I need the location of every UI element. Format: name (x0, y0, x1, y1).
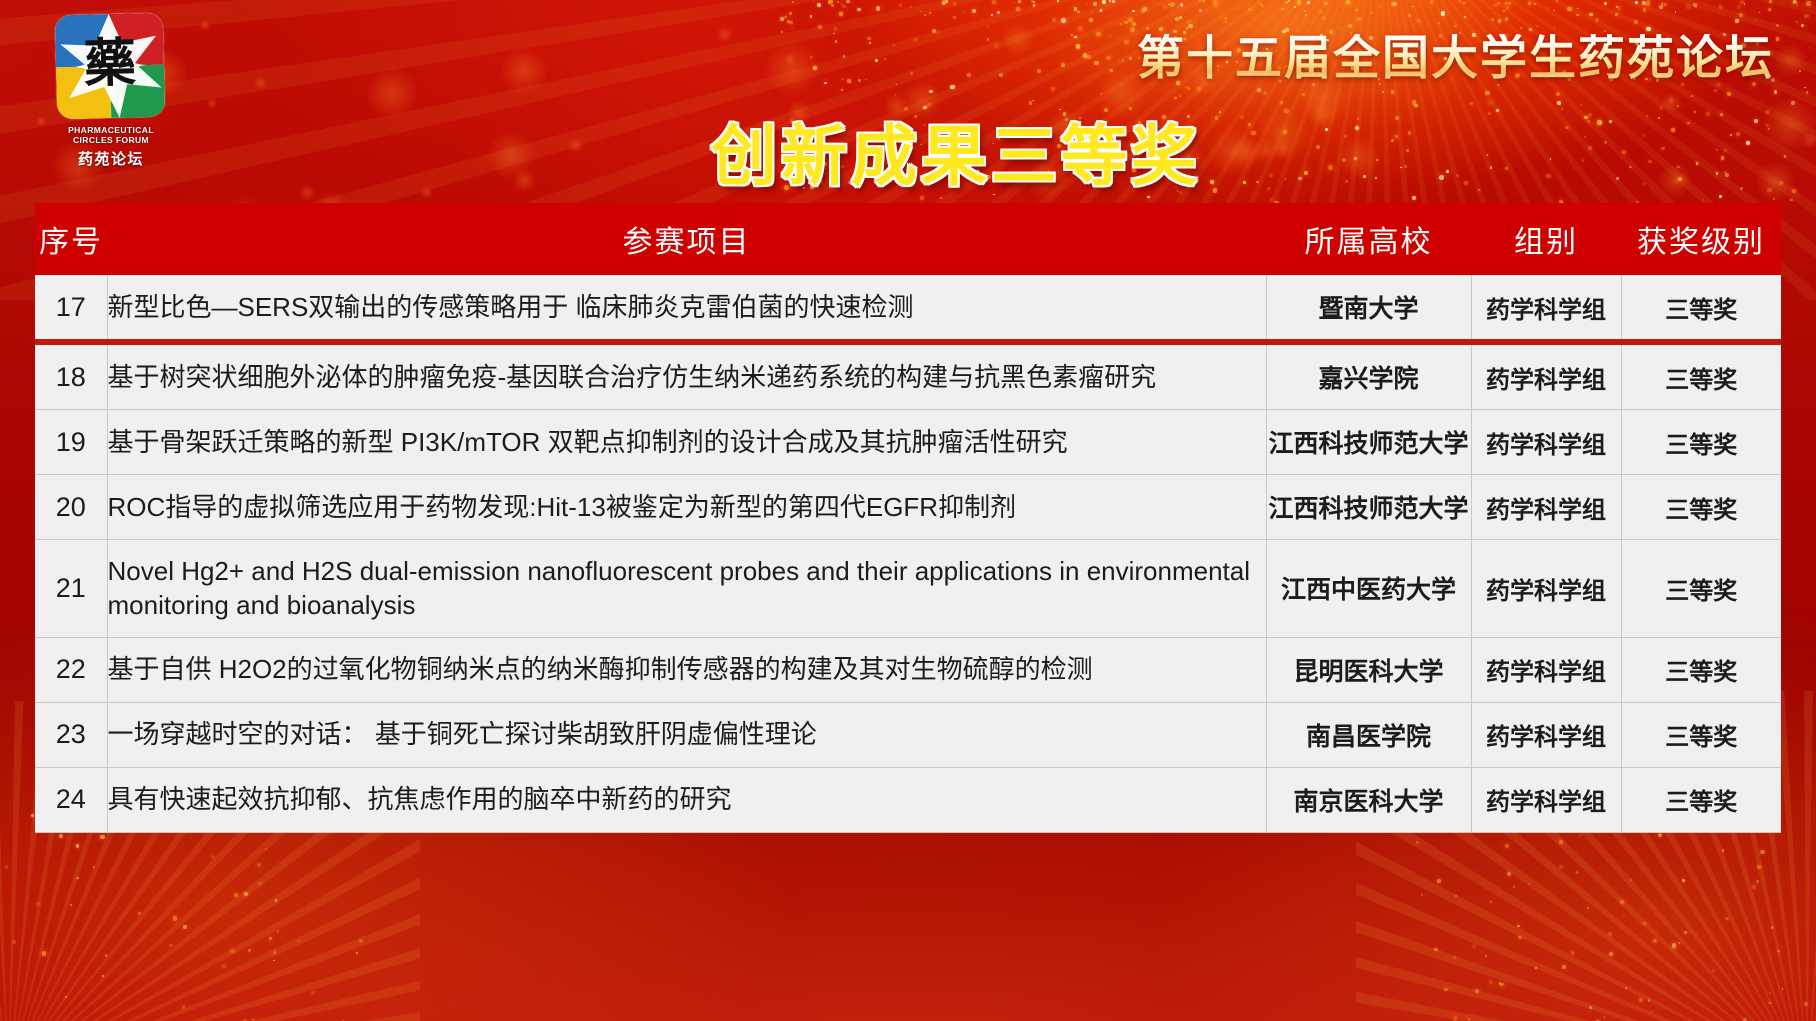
cell-project: 基于树突状细胞外泌体的肿瘤免疫-基因联合治疗仿生纳米递药系统的构建与抗黑色素瘤研… (107, 342, 1266, 410)
cell-project: 新型比色—SERS双输出的传感策略用于 临床肺炎克雷伯菌的快速检测 (107, 275, 1266, 342)
cell-index: 21 (35, 540, 107, 638)
award-title: 创新成果三等奖 (0, 103, 1816, 199)
cell-index: 19 (35, 410, 107, 475)
cell-level: 三等奖 (1621, 767, 1781, 832)
cell-university: 昆明医科大学 (1266, 637, 1471, 702)
cell-index: 18 (35, 342, 107, 410)
cell-group: 药学科学组 (1471, 342, 1621, 410)
table-row: 23一场穿越时空的对话： 基于铜死亡探讨柴胡致肝阴虚偏性理论南昌医学院药学科学组… (35, 702, 1781, 767)
cell-group: 药学科学组 (1471, 410, 1621, 475)
cell-university: 江西中医药大学 (1266, 540, 1471, 638)
table-row: 22基于自供 H2O2的过氧化物铜纳米点的纳米酶抑制传感器的构建及其对生物硫醇的… (35, 637, 1781, 702)
event-title: 第十五届全国大学生药苑论坛 (1137, 34, 1774, 81)
cell-level: 三等奖 (1621, 342, 1781, 410)
cell-level: 三等奖 (1621, 410, 1781, 475)
column-header-project: 参赛项目 (107, 203, 1266, 275)
table-body: 17新型比色—SERS双输出的传感策略用于 临床肺炎克雷伯菌的快速检测暨南大学药… (35, 275, 1781, 832)
cell-group: 药学科学组 (1471, 475, 1621, 540)
table-row: 20ROC指导的虚拟筛选应用于药物发现:Hit-13被鉴定为新型的第四代EGFR… (35, 475, 1781, 540)
cell-index: 20 (35, 475, 107, 540)
cell-level: 三等奖 (1621, 275, 1781, 342)
cell-university: 江西科技师范大学 (1266, 475, 1471, 540)
column-header-level: 获奖级别 (1621, 203, 1781, 275)
logo-character: 藥 (55, 37, 164, 92)
cell-project: 具有快速起效抗抑郁、抗焦虑作用的脑卒中新药的研究 (107, 767, 1266, 832)
table-row: 24具有快速起效抗抑郁、抗焦虑作用的脑卒中新药的研究南京医科大学药学科学组三等奖 (35, 767, 1781, 832)
cell-index: 23 (35, 702, 107, 767)
cell-index: 17 (35, 275, 107, 342)
cell-index: 24 (35, 767, 107, 832)
slide-header: 藥 PHARMACEUTICAL CIRCLES FORUM 药苑论坛 第十五届… (0, 0, 1816, 200)
cell-university: 暨南大学 (1266, 275, 1471, 342)
table-header-row: 序号 参赛项目 所属高校 组别 获奖级别 (35, 203, 1781, 275)
cell-group: 药学科学组 (1471, 540, 1621, 638)
cell-group: 药学科学组 (1471, 637, 1621, 702)
cell-university: 江西科技师范大学 (1266, 410, 1471, 475)
cell-university: 嘉兴学院 (1266, 342, 1471, 410)
cell-index: 22 (35, 637, 107, 702)
cell-project: Novel Hg2+ and H2S dual-emission nanoflu… (107, 540, 1266, 638)
table-row: 19基于骨架跃迁策略的新型 PI3K/mTOR 双靶点抑制剂的设计合成及其抗肿瘤… (35, 410, 1781, 475)
column-header-index: 序号 (35, 203, 107, 275)
cell-level: 三等奖 (1621, 540, 1781, 638)
table-row: 21Novel Hg2+ and H2S dual-emission nanof… (35, 540, 1781, 638)
cell-university: 南昌医学院 (1266, 702, 1471, 767)
cell-group: 药学科学组 (1471, 767, 1621, 832)
table-row: 18基于树突状细胞外泌体的肿瘤免疫-基因联合治疗仿生纳米递药系统的构建与抗黑色素… (35, 342, 1781, 410)
cell-project: 一场穿越时空的对话： 基于铜死亡探讨柴胡致肝阴虚偏性理论 (107, 702, 1266, 767)
cell-project: ROC指导的虚拟筛选应用于药物发现:Hit-13被鉴定为新型的第四代EGFR抑制… (107, 475, 1266, 540)
cell-level: 三等奖 (1621, 702, 1781, 767)
column-header-university: 所属高校 (1266, 203, 1471, 275)
cell-project: 基于骨架跃迁策略的新型 PI3K/mTOR 双靶点抑制剂的设计合成及其抗肿瘤活性… (107, 410, 1266, 475)
cell-level: 三等奖 (1621, 475, 1781, 540)
cell-group: 药学科学组 (1471, 702, 1621, 767)
cell-university: 南京医科大学 (1266, 767, 1471, 832)
cell-level: 三等奖 (1621, 637, 1781, 702)
award-table: 序号 参赛项目 所属高校 组别 获奖级别 17新型比色—SERS双输出的传感策略… (35, 203, 1781, 833)
cell-group: 药学科学组 (1471, 275, 1621, 342)
table-row: 17新型比色—SERS双输出的传感策略用于 临床肺炎克雷伯菌的快速检测暨南大学药… (35, 275, 1781, 342)
award-table-container: 序号 参赛项目 所属高校 组别 获奖级别 17新型比色—SERS双输出的传感策略… (35, 203, 1781, 863)
cell-project: 基于自供 H2O2的过氧化物铜纳米点的纳米酶抑制传感器的构建及其对生物硫醇的检测 (107, 637, 1266, 702)
table-header: 序号 参赛项目 所属高校 组别 获奖级别 (35, 203, 1781, 275)
column-header-group: 组别 (1471, 203, 1621, 275)
